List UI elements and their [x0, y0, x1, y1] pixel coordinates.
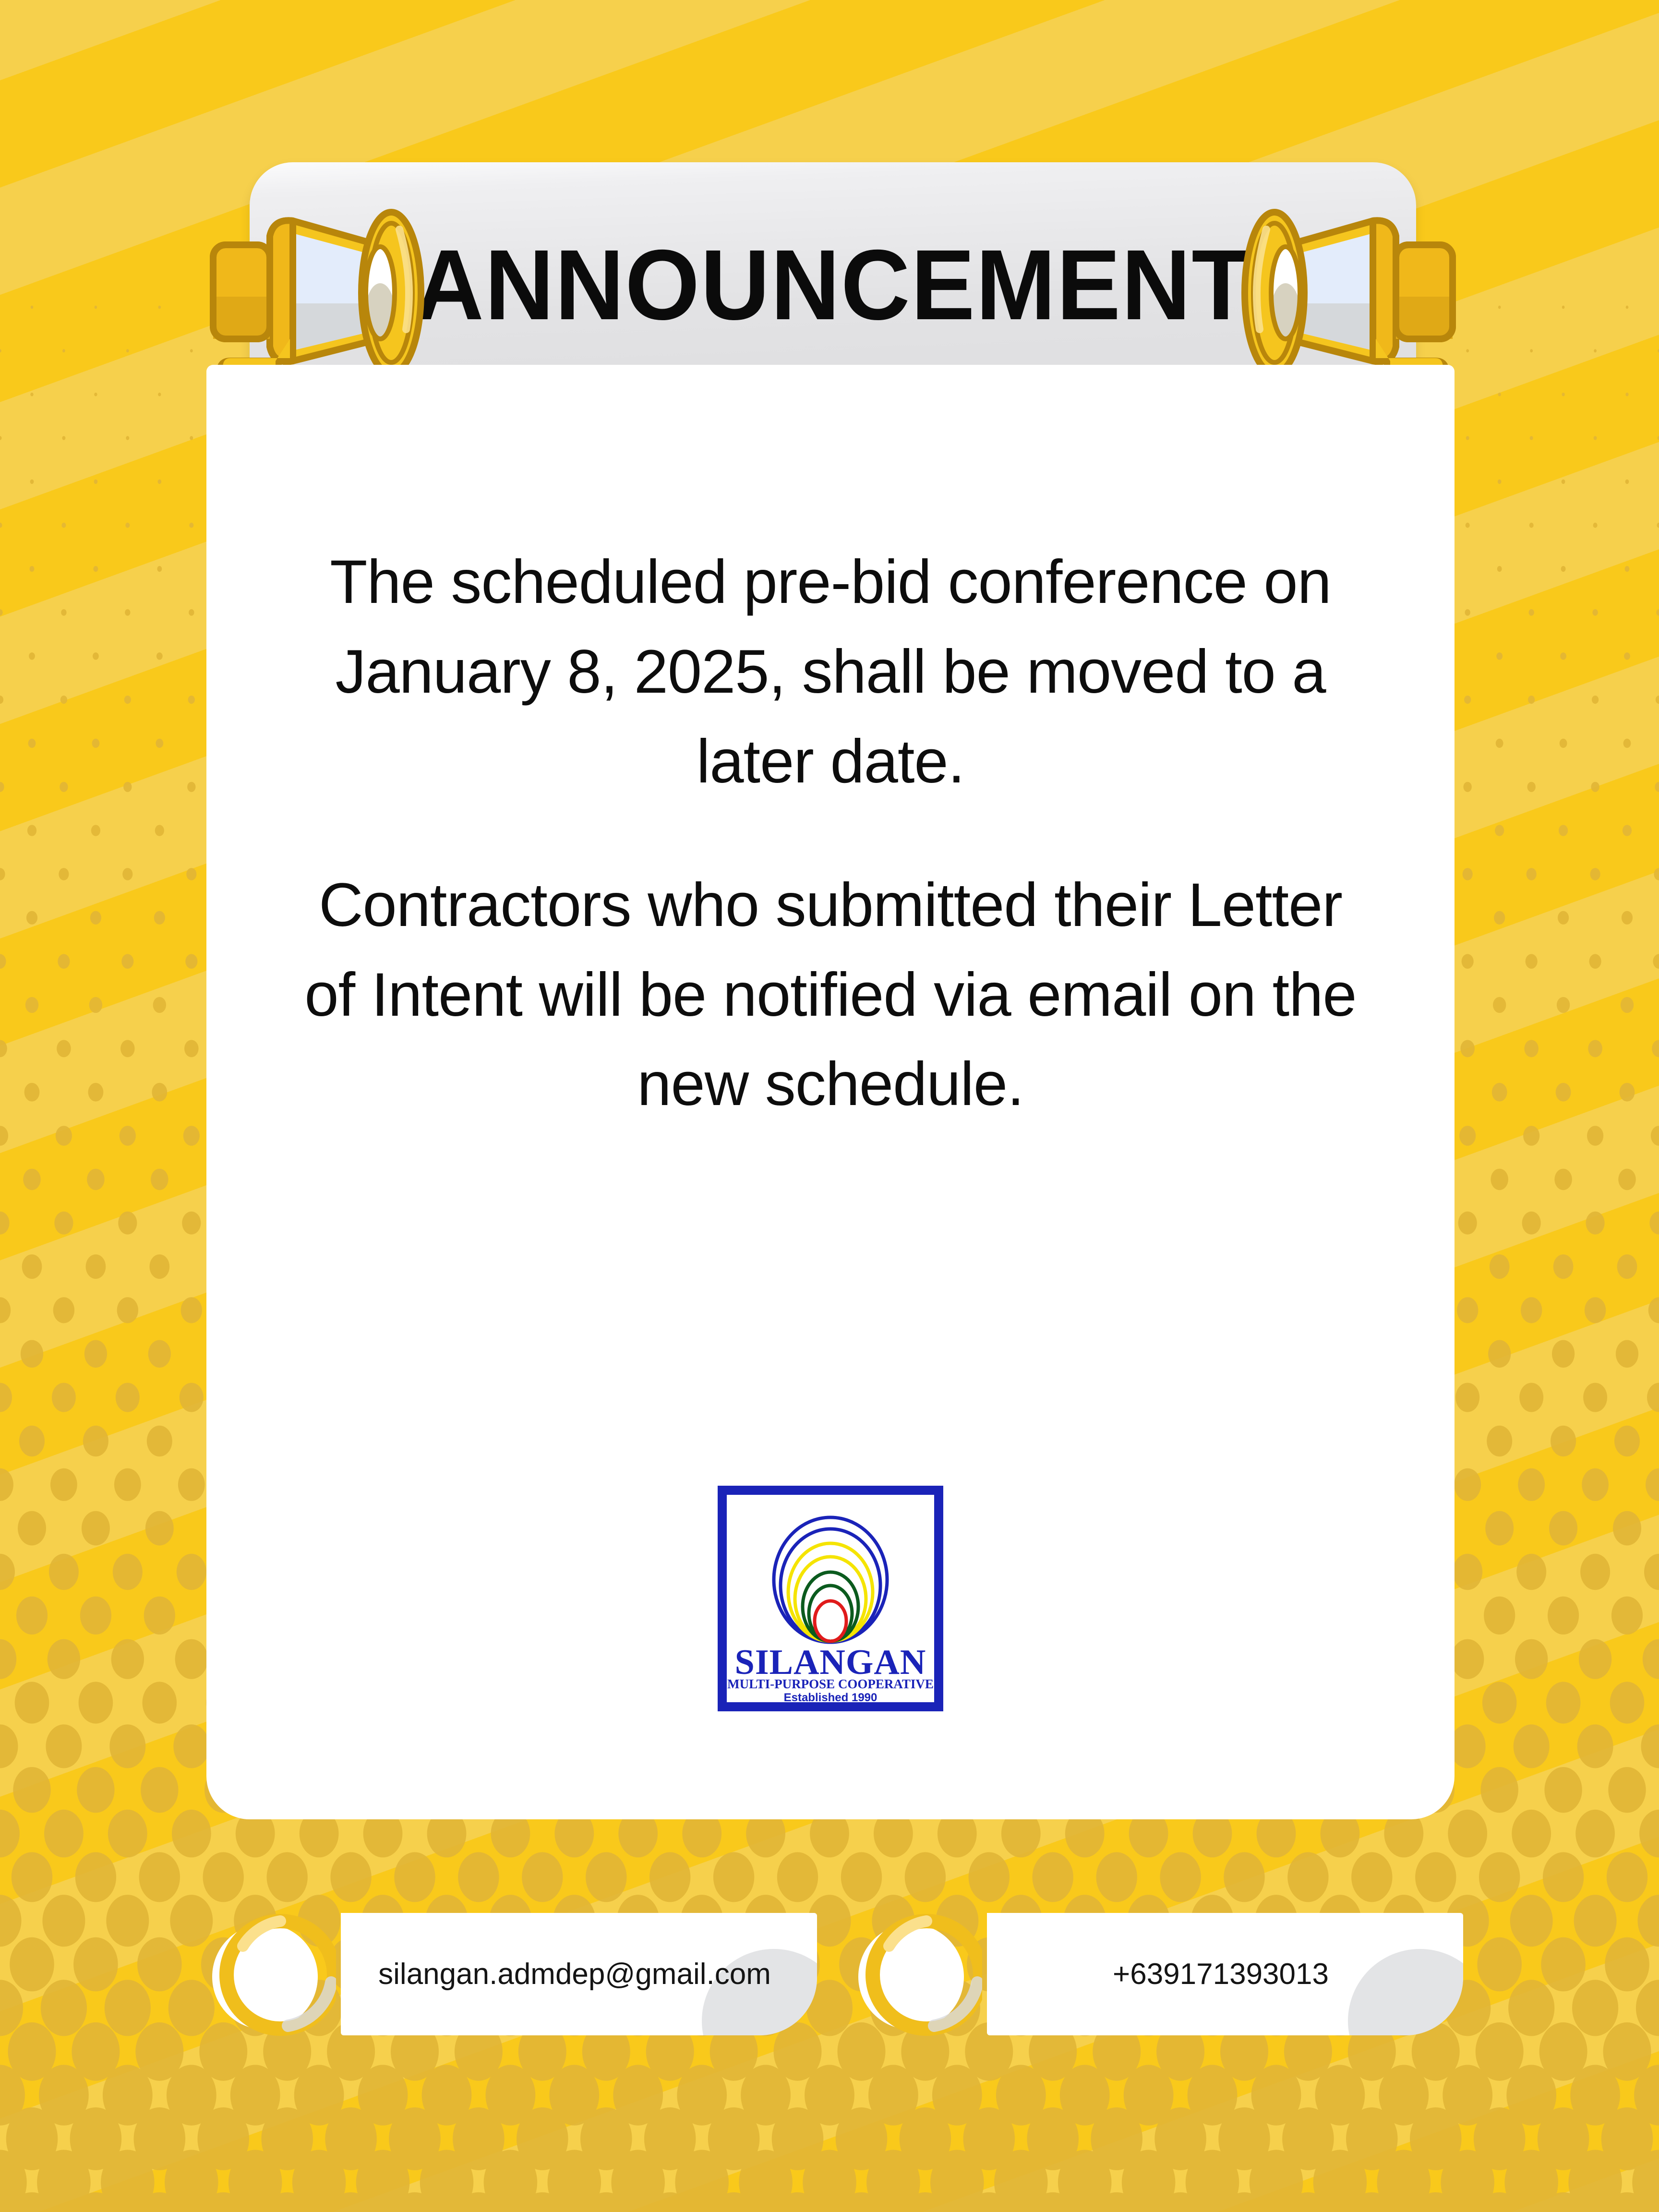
megaphone-icon	[1229, 192, 1536, 394]
svg-text:Established 1990: Established 1990	[784, 1691, 878, 1704]
svg-text:SILANGAN: SILANGAN	[735, 1643, 926, 1682]
announcement-body: The scheduled pre-bid conference on Janu…	[302, 538, 1358, 1130]
phone-text: +639171393013	[998, 1913, 1444, 2035]
silangan-cooperative-logo: SILANGAN MULTI-PURPOSE COOPERATIVE Estab…	[718, 1486, 943, 1711]
announcement-paragraph-1: The scheduled pre-bid conference on Janu…	[302, 538, 1358, 807]
ring-icon	[207, 1911, 336, 2039]
announcement-poster: ANNOUNCEMENT	[0, 0, 1659, 2212]
contact-phone[interactable]: +639171393013	[854, 1913, 1463, 2035]
email-text: silangan.admdep@gmail.com	[351, 1913, 798, 2035]
page-title: ANNOUNCEMENT	[273, 235, 1393, 335]
contact-email[interactable]: silangan.admdep@gmail.com	[207, 1913, 817, 2035]
svg-text:MULTI-PURPOSE COOPERATIVE: MULTI-PURPOSE COOPERATIVE	[727, 1677, 934, 1691]
megaphone-icon	[130, 192, 437, 394]
paragraph-spacer	[302, 807, 1358, 861]
ring-icon	[854, 1911, 982, 2039]
announcement-paragraph-2: Contractors who submitted their Letter o…	[302, 861, 1358, 1130]
content-card: The scheduled pre-bid conference on Janu…	[206, 365, 1455, 1819]
